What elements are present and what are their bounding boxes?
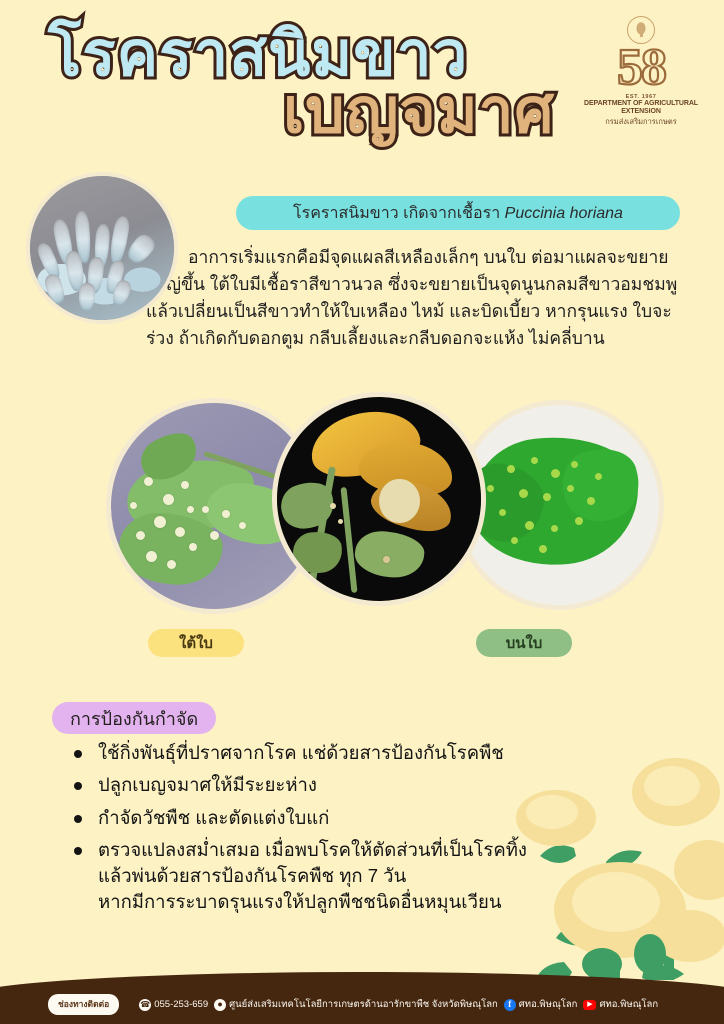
facebook-icon: f: [504, 999, 516, 1011]
footer-address: ● ศูนย์ส่งเสริมเทคโนโลยีการเกษตรด้านอารั…: [214, 997, 498, 1012]
footer-youtube[interactable]: ▶ ศทอ.พิษณุโลก: [583, 997, 658, 1012]
prevention-list: ใช้กิ่งพันธุ์ที่ปราศจากโรค แช่ด้วยสารป้อ…: [68, 740, 668, 922]
label-under-leaf: ใต้ใบ: [148, 629, 244, 657]
footer-phone[interactable]: ☎ 055-253-659: [139, 999, 208, 1011]
photo-2-content: [277, 397, 481, 601]
list-item: กำจัดวัชพืช และตัดแต่งใบแก่: [68, 805, 668, 831]
prevention-item-text: ตรวจแปลงสม่ำเสมอ เมื่อพบโรคให้ตัดส่วนที่…: [98, 839, 527, 860]
pathogen-banner-text: โรคราสนิมขาว เกิดจากเชื้อรา Puccinia hor…: [293, 201, 623, 226]
logo-department-en: DEPARTMENT OF AGRICULTURAL EXTENSION: [576, 100, 706, 117]
list-item: ใช้กิ่งพันธุ์ที่ปราศจากโรค แช่ด้วยสารป้อ…: [68, 740, 668, 766]
phone-icon: ☎: [139, 999, 151, 1011]
footer-facebook[interactable]: f ศทอ.พิษณุโลก: [504, 997, 578, 1012]
youtube-icon: ▶: [583, 1000, 596, 1010]
infographic-poster: โรคราสนิมขาว เบญจมาศ 58 EST. 1967 DEPART…: [0, 0, 724, 1024]
pathogen-prefix: โรคราสนิมขาว เกิดจากเชื้อรา: [293, 205, 505, 222]
prevention-item-subline: แล้วพ่นด้วยสารป้องกันโรคพืช ทุก 7 วัน: [98, 863, 668, 889]
label-top-leaf: บนใบ: [476, 629, 572, 657]
footer-youtube-name: ศทอ.พิษณุโลก: [599, 997, 658, 1012]
footer-phone-number: 055-253-659: [154, 999, 208, 1010]
agency-logo: 58 EST. 1967 DEPARTMENT OF AGRICULTURAL …: [576, 16, 706, 126]
photo-infected-flower: [272, 392, 486, 606]
anniversary-number: 58: [576, 45, 706, 92]
photo-gallery: [0, 392, 724, 622]
footer-contact-bar: ช่องทางติดต่อ ☎ 055-253-659 ● ศูนย์ส่งเส…: [0, 966, 724, 1024]
logo-department-th: กรมส่งเสริมการเกษตร: [576, 117, 706, 127]
footer-address-text: ศูนย์ส่งเสริมเทคโนโลยีการเกษตรด้านอารักข…: [229, 997, 498, 1012]
title-line-2: เบญจมาศ: [283, 81, 608, 143]
footer-facebook-name: ศทอ.พิษณุโลก: [519, 997, 578, 1012]
prevention-item-text: กำจัดวัชพืช และตัดแต่งใบแก่: [98, 807, 329, 828]
prevention-item-text: ใช้กิ่งพันธุ์ที่ปราศจากโรค แช่ด้วยสารป้อ…: [98, 742, 504, 763]
page-title: โรคราสนิมขาว เบญจมาศ: [48, 26, 608, 143]
photo-3-content: [459, 405, 659, 605]
pathogen-scientific-name: Puccinia horiana: [505, 205, 623, 222]
list-item: ปลูกเบญจมาศให้มีระยะห่าง: [68, 772, 668, 798]
microscope-image-content: [30, 176, 174, 320]
symptom-paragraph: อาการเริ่มแรกคือมีจุดแผลสีเหลืองเล็กๆ บน…: [146, 244, 686, 353]
pathogen-banner: โรคราสนิมขาว เกิดจากเชื้อรา Puccinia hor…: [236, 196, 680, 230]
contact-badge: ช่องทางติดต่อ: [48, 994, 119, 1015]
prevention-item-text: ปลูกเบญจมาศให้มีระยะห่าง: [98, 774, 317, 795]
microscope-spore-photo: [26, 172, 178, 324]
prevention-heading: การป้องกันกำจัด: [52, 702, 216, 734]
prevention-item-subline: หากมีการระบาดรุนแรงให้ปลูกพืชชนิดอื่นหมุ…: [98, 889, 668, 915]
footer-content: ช่องทางติดต่อ ☎ 055-253-659 ● ศูนย์ส่งเส…: [0, 994, 724, 1015]
location-pin-icon: ●: [214, 999, 226, 1011]
list-item: ตรวจแปลงสม่ำเสมอ เมื่อพบโรคให้ตัดส่วนที่…: [68, 837, 668, 916]
garuda-crest-icon: [627, 16, 655, 44]
